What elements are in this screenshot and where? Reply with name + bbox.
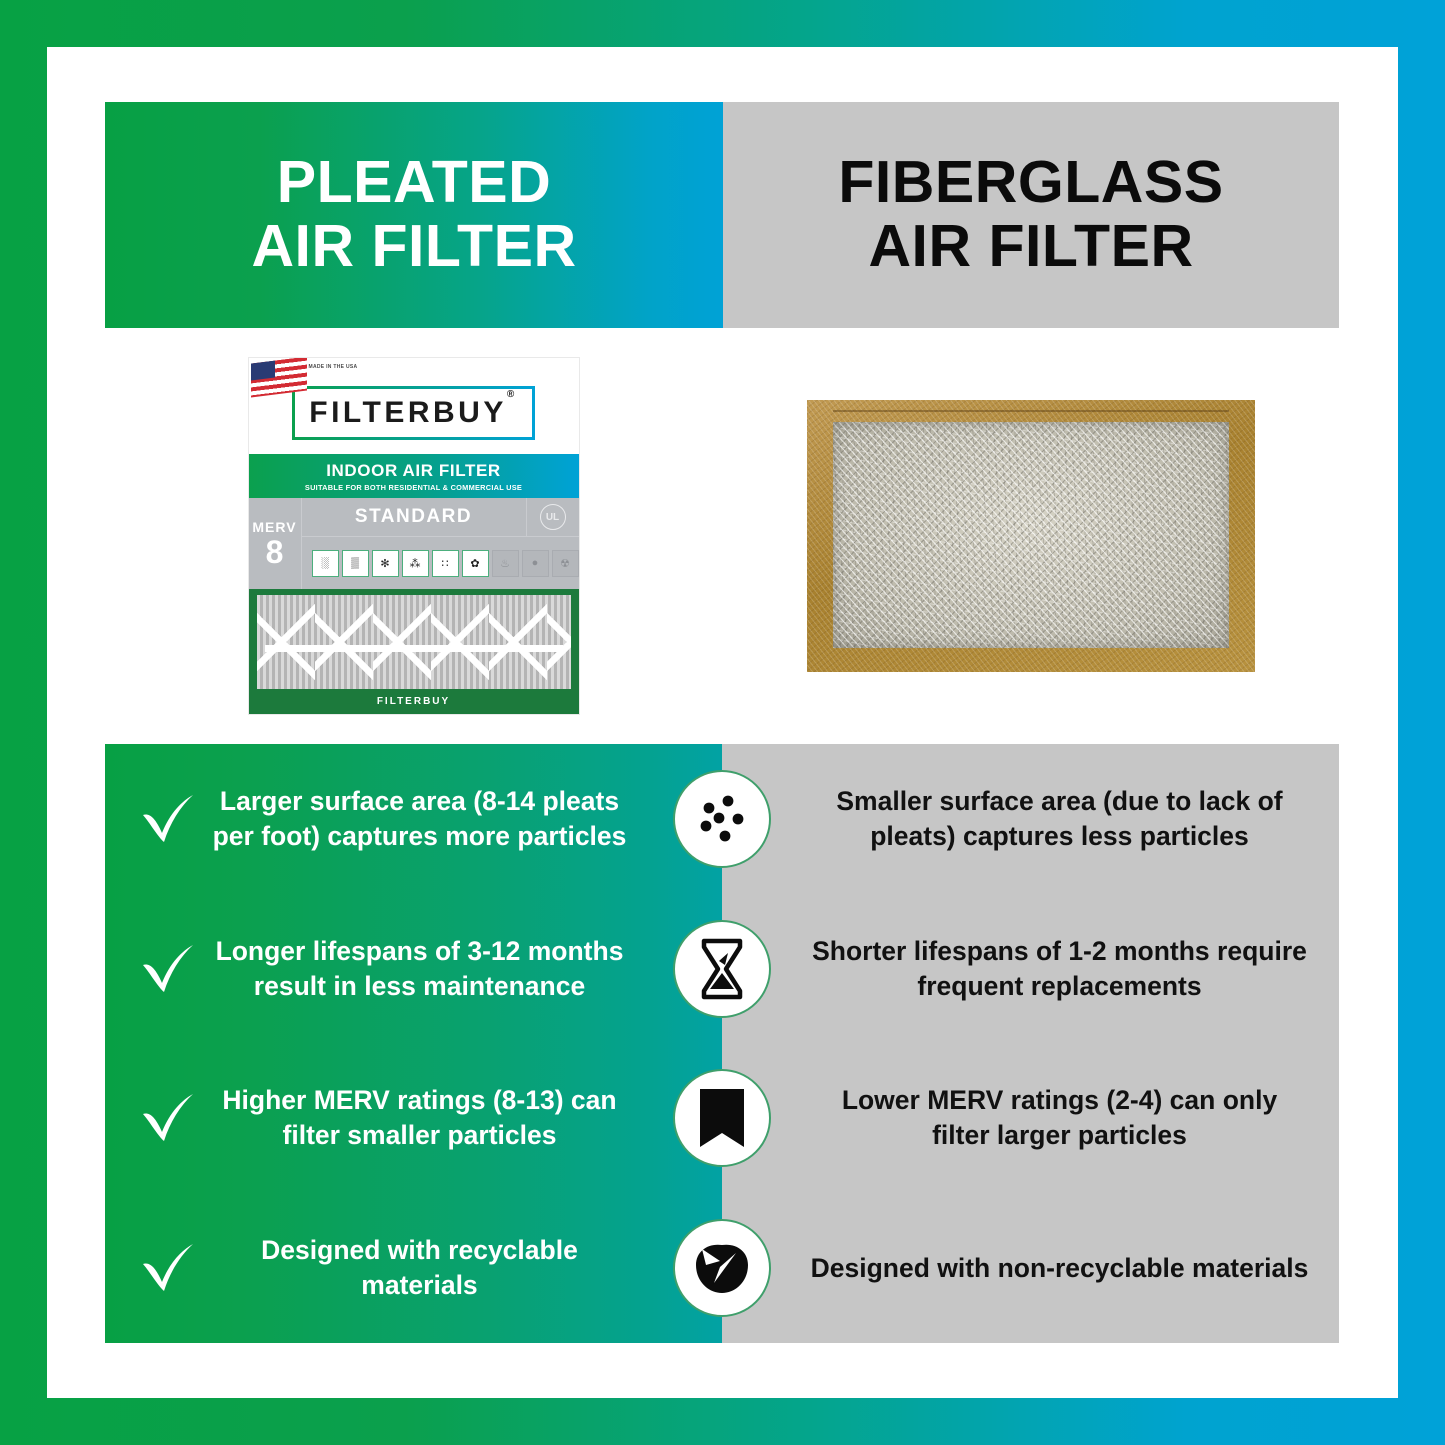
- row-left-text: Designed with recyclable materials: [205, 1233, 708, 1303]
- row-left-cell: Longer lifespans of 3-12 months result i…: [105, 934, 722, 1004]
- inner-white-panel: PLEATED AIR FILTER FIBERGLASS AIR FILTER…: [47, 47, 1398, 1398]
- header-band: PLEATED AIR FILTER FIBERGLASS AIR FILTER: [105, 102, 1339, 328]
- row-left-text: Higher MERV ratings (8-13) can filter sm…: [205, 1083, 708, 1153]
- household-dust-icon: ░: [312, 550, 339, 577]
- comparison-row: Longer lifespans of 3-12 months result i…: [105, 894, 1339, 1044]
- checkmark-icon: [131, 793, 205, 845]
- product-cell-fiberglass: [722, 328, 1339, 744]
- merv-block: MERV 8: [249, 498, 302, 589]
- row-right-cell: Shorter lifespans of 1-2 months require …: [722, 934, 1339, 1004]
- ul-mark-icon: UL: [540, 504, 566, 530]
- brand-logo-frame: FILTERBUY®: [292, 386, 534, 440]
- bacteria-icon: ●: [522, 550, 549, 577]
- header-fiberglass: FIBERGLASS AIR FILTER: [723, 102, 1339, 328]
- checkmark-icon: [131, 1092, 205, 1144]
- band-sub-text: SUITABLE FOR BOTH RESIDENTIAL & COMMERCI…: [305, 483, 522, 492]
- ul-certification: UL: [526, 498, 579, 536]
- mold-spores-icon: ⁂: [402, 550, 429, 577]
- capability-icon-strip: ░ ▒ ✻ ⁂ ∷ ✿ ♨ ● ☢: [302, 537, 579, 589]
- product-cell-pleated: MADE IN THE USA FILTERBUY® INDOOR AIR FI…: [105, 328, 722, 744]
- pleat-texture: [257, 595, 571, 689]
- pleat-media-area: FILTERBUY: [249, 589, 579, 714]
- filter-box-footer-brand: FILTERBUY: [257, 696, 571, 707]
- pollen-icon: ✻: [372, 550, 399, 577]
- leaf-icon: [673, 1219, 771, 1317]
- comparison-row: Designed with recyclable materials Desig…: [105, 1193, 1339, 1343]
- smoke-icon: ♨: [492, 550, 519, 577]
- checkmark-icon: [131, 943, 205, 995]
- virus-icon: ☢: [552, 550, 579, 577]
- row-left-cell: Higher MERV ratings (8-13) can filter sm…: [105, 1083, 722, 1153]
- merv-label: MERV: [252, 519, 296, 535]
- header-pleated-title: PLEATED AIR FILTER: [251, 151, 576, 278]
- row-right-text: Designed with non-recyclable materials: [810, 1251, 1309, 1286]
- band-main-text: INDOOR AIR FILTER: [326, 461, 501, 481]
- brand-logo-text: FILTERBUY®: [309, 396, 517, 430]
- header-pleated: PLEATED AIR FILTER: [105, 102, 723, 328]
- filter-box-top: MADE IN THE USA FILTERBUY®: [249, 358, 579, 454]
- header-fiberglass-title: FIBERGLASS AIR FILTER: [838, 151, 1223, 278]
- spec-right: STANDARD UL ░ ▒ ✻ ⁂: [302, 498, 579, 589]
- row-right-cell: Lower MERV ratings (2-4) can only filter…: [722, 1083, 1339, 1153]
- pleated-filter-product-image: MADE IN THE USA FILTERBUY® INDOOR AIR FI…: [249, 358, 579, 714]
- content-plate: PLEATED AIR FILTER FIBERGLASS AIR FILTER…: [105, 102, 1339, 1343]
- row-right-cell: Designed with non-recyclable materials: [722, 1251, 1339, 1286]
- standard-row: STANDARD UL: [302, 498, 579, 537]
- row-left-text: Longer lifespans of 3-12 months result i…: [205, 934, 708, 1004]
- comparison-section: Larger surface area (8-14 pleats per foo…: [105, 744, 1339, 1343]
- infographic-root: PLEATED AIR FILTER FIBERGLASS AIR FILTER…: [0, 0, 1445, 1445]
- lint-fibers-icon: ▒: [342, 550, 369, 577]
- particles-icon: [673, 770, 771, 868]
- fiberglass-mesh-texture: [833, 422, 1229, 648]
- grade-label: STANDARD: [302, 506, 526, 528]
- row-right-text: Shorter lifespans of 1-2 months require …: [810, 934, 1309, 1004]
- row-left-cell: Designed with recyclable materials: [105, 1233, 722, 1303]
- comparison-rows: Larger surface area (8-14 pleats per foo…: [105, 744, 1339, 1343]
- checkmark-icon: [131, 1242, 205, 1294]
- hourglass-icon: [673, 920, 771, 1018]
- dust-mites-icon: ∷: [432, 550, 459, 577]
- pleat-support-bar: [265, 645, 563, 652]
- row-left-text: Larger surface area (8-14 pleats per foo…: [205, 784, 708, 854]
- row-right-text: Lower MERV ratings (2-4) can only filter…: [810, 1083, 1309, 1153]
- bookmark-icon: [673, 1069, 771, 1167]
- made-in-usa-label: MADE IN THE USA: [309, 364, 358, 371]
- usa-flag-icon: [251, 358, 307, 397]
- filter-box-band: INDOOR AIR FILTER SUITABLE FOR BOTH RESI…: [249, 454, 579, 498]
- row-left-cell: Larger surface area (8-14 pleats per foo…: [105, 784, 722, 854]
- row-right-text: Smaller surface area (due to lack of ple…: [810, 784, 1309, 854]
- pet-dander-icon: ✿: [462, 550, 489, 577]
- fiberglass-filter-product-image: [807, 400, 1255, 672]
- filter-box-spec: MERV 8 STANDARD UL: [249, 498, 579, 589]
- comparison-row: Larger surface area (8-14 pleats per foo…: [105, 744, 1339, 894]
- row-right-cell: Smaller surface area (due to lack of ple…: [722, 784, 1339, 854]
- merv-value: 8: [266, 536, 284, 568]
- comparison-row: Higher MERV ratings (8-13) can filter sm…: [105, 1044, 1339, 1194]
- product-image-row: MADE IN THE USA FILTERBUY® INDOOR AIR FI…: [105, 328, 1339, 744]
